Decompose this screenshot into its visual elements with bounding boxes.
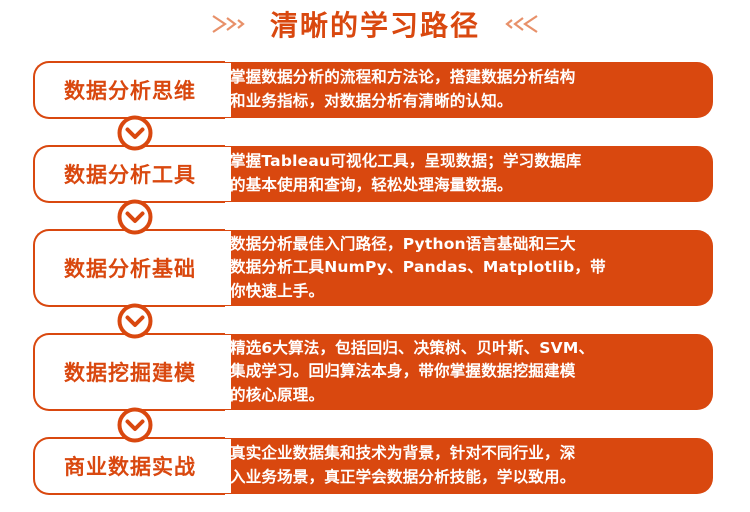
desc-line: 精选6大算法，包括回归、决策树、贝叶斯、SVM、 bbox=[230, 337, 699, 361]
step-description: 掌握Tableau可视化工具，呈现数据；学习数据库 的基本使用和查询，轻松处理海… bbox=[230, 146, 699, 202]
page-title: 清晰的学习路径 bbox=[270, 12, 480, 40]
step-description: 真实企业数据集和技术为背景，针对不同行业，深 入业务场景，真正学会数据分析技能，… bbox=[230, 438, 699, 494]
step-label-box: 数据挖掘建模 bbox=[33, 333, 225, 411]
chevron-down-circle-icon bbox=[116, 302, 154, 340]
desc-line: 的核心原理。 bbox=[230, 384, 699, 408]
desc-line: 掌握数据分析的流程和方法论，搭建数据分析结构 bbox=[230, 66, 699, 90]
header: 清晰的学习路径 bbox=[0, 4, 750, 48]
step-row[interactable]: 数据分析思维 掌握数据分析的流程和方法论，搭建数据分析结构 和业务指标，对数据分… bbox=[34, 62, 713, 118]
step-label: 数据分析基础 bbox=[64, 253, 196, 283]
step-row[interactable]: 数据挖掘建模 精选6大算法，包括回归、决策树、贝叶斯、SVM、 集成学习。回归算… bbox=[34, 334, 713, 410]
step-label-box: 商业数据实战 bbox=[33, 437, 225, 495]
step-description: 精选6大算法，包括回归、决策树、贝叶斯、SVM、 集成学习。回归算法本身，带你掌… bbox=[230, 334, 699, 410]
desc-line: 入业务场景，真正学会数据分析技能，学以致用。 bbox=[230, 466, 699, 490]
chevron-down-circle-icon bbox=[116, 406, 154, 444]
desc-line: 的基本使用和查询，轻松处理海量数据。 bbox=[230, 174, 699, 198]
step-label: 商业数据实战 bbox=[64, 451, 196, 481]
step-label-box: 数据分析基础 bbox=[33, 229, 225, 307]
double-chevron-right-icon bbox=[210, 13, 256, 39]
desc-line: 集成学习。回归算法本身，带你掌握数据挖掘建模 bbox=[230, 360, 699, 384]
step-label: 数据分析工具 bbox=[64, 159, 196, 189]
step-row[interactable]: 数据分析工具 掌握Tableau可视化工具，呈现数据；学习数据库 的基本使用和查… bbox=[34, 146, 713, 202]
step-description: 掌握数据分析的流程和方法论，搭建数据分析结构 和业务指标，对数据分析有清晰的认知… bbox=[230, 62, 699, 118]
step-label-box: 数据分析思维 bbox=[33, 61, 225, 119]
desc-line: 数据分析最佳入门路径，Python语言基础和三大 bbox=[230, 233, 699, 257]
desc-line: 掌握Tableau可视化工具，呈现数据；学习数据库 bbox=[230, 150, 699, 174]
desc-line: 你快速上手。 bbox=[230, 280, 699, 304]
step-row[interactable]: 商业数据实战 真实企业数据集和技术为背景，针对不同行业，深 入业务场景，真正学会… bbox=[34, 438, 713, 494]
step-label-box: 数据分析工具 bbox=[33, 145, 225, 203]
step-label: 数据挖掘建模 bbox=[64, 357, 196, 387]
step-label: 数据分析思维 bbox=[64, 75, 196, 105]
chevron-down-circle-icon bbox=[116, 198, 154, 236]
chevron-down-circle-icon bbox=[116, 114, 154, 152]
desc-line: 和业务指标，对数据分析有清晰的认知。 bbox=[230, 90, 699, 114]
step-row[interactable]: 数据分析基础 数据分析最佳入门路径，Python语言基础和三大 数据分析工具Nu… bbox=[34, 230, 713, 306]
learning-path-infographic: 清晰的学习路径 数据分析思维 掌握数据分析的流程和方法论，搭建数据分析结构 和业… bbox=[0, 0, 750, 512]
double-chevron-left-icon bbox=[494, 13, 540, 39]
step-description: 数据分析最佳入门路径，Python语言基础和三大 数据分析工具NumPy、Pan… bbox=[230, 230, 699, 306]
desc-line: 真实企业数据集和技术为背景，针对不同行业，深 bbox=[230, 442, 699, 466]
desc-line: 数据分析工具NumPy、Pandas、Matplotlib，带 bbox=[230, 256, 699, 280]
